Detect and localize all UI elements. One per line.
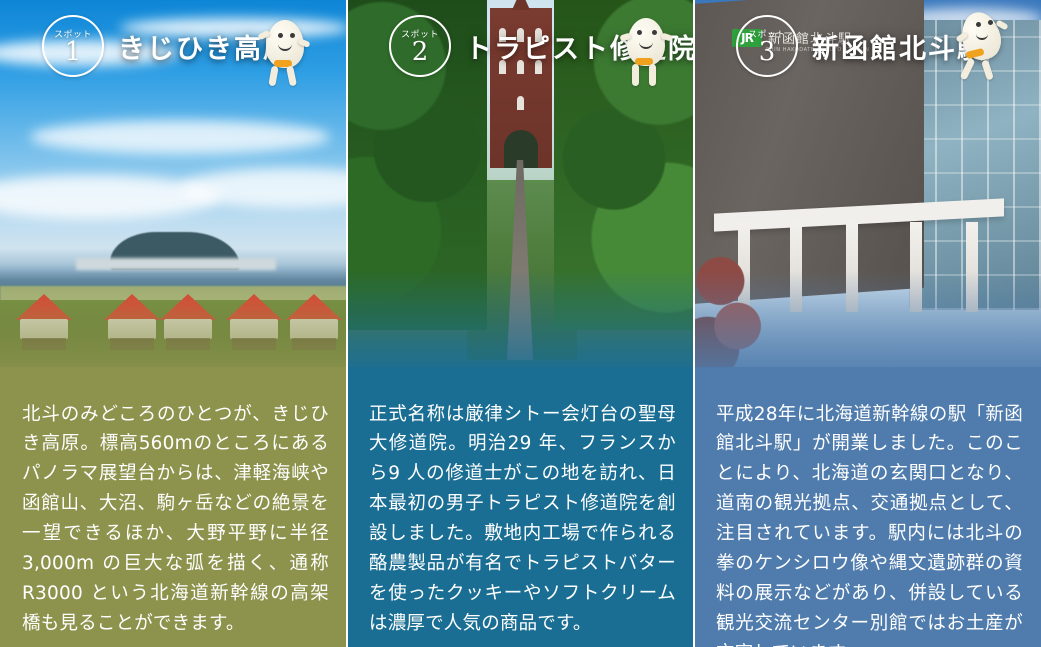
spot-card-2[interactable]: スポット 2 トラピスト修道院 正式名称は厳律シトー会灯台の聖母大修道院。明治2… bbox=[347, 0, 694, 647]
mascot-character-icon bbox=[954, 8, 1008, 84]
spot-3-body-text: 平成28年に北海道新幹線の駅「新函館北斗駅」が開業しました。このことにより、北海… bbox=[716, 400, 1023, 647]
badge-label: スポット bbox=[748, 31, 786, 40]
column-divider bbox=[346, 0, 348, 647]
spot-number-badge-2: スポット 2 bbox=[389, 15, 451, 77]
spot-card-3[interactable]: JR 新函館北斗駅 SHIN HAKODATE HOKUTO STATION ス… bbox=[694, 0, 1041, 647]
cloud-shape bbox=[30, 120, 330, 154]
badge-number: 3 bbox=[759, 39, 776, 65]
spot-card-1[interactable]: スポット 1 きじひき高原 北斗のみどころのひとつが、きじひき高原。標高560m… bbox=[0, 0, 347, 647]
mascot-character-icon bbox=[619, 14, 673, 90]
badge-number: 1 bbox=[65, 39, 82, 65]
spot-cards-board: スポット 1 きじひき高原 北斗のみどころのひとつが、きじひき高原。標高560m… bbox=[0, 0, 1041, 647]
spot-1-body-text: 北斗のみどころのひとつが、きじひき高原。標高560mのところにあるパノラマ展望台… bbox=[22, 400, 329, 640]
spot-2-body-text: 正式名称は厳律シトー会灯台の聖母大修道院。明治29 年、フランスから9 人の修道… bbox=[369, 400, 676, 640]
spot-1-text-panel: 北斗のみどころのひとつが、きじひき高原。標高560mのところにあるパノラマ展望台… bbox=[0, 367, 347, 647]
badge-label: スポット bbox=[401, 31, 439, 40]
spot-number-badge-3: スポット 3 bbox=[736, 15, 798, 77]
badge-number: 2 bbox=[412, 39, 429, 65]
mascot-character-icon bbox=[258, 16, 312, 92]
spot-2-text-panel: 正式名称は厳律シトー会灯台の聖母大修道院。明治29 年、フランスから9 人の修道… bbox=[347, 367, 694, 647]
spot-3-text-panel: 平成28年に北海道新幹線の駅「新函館北斗駅」が開業しました。このことにより、北海… bbox=[694, 367, 1041, 647]
spot-number-badge-1: スポット 1 bbox=[42, 15, 104, 77]
badge-label: スポット bbox=[54, 31, 92, 40]
column-divider bbox=[693, 0, 695, 647]
